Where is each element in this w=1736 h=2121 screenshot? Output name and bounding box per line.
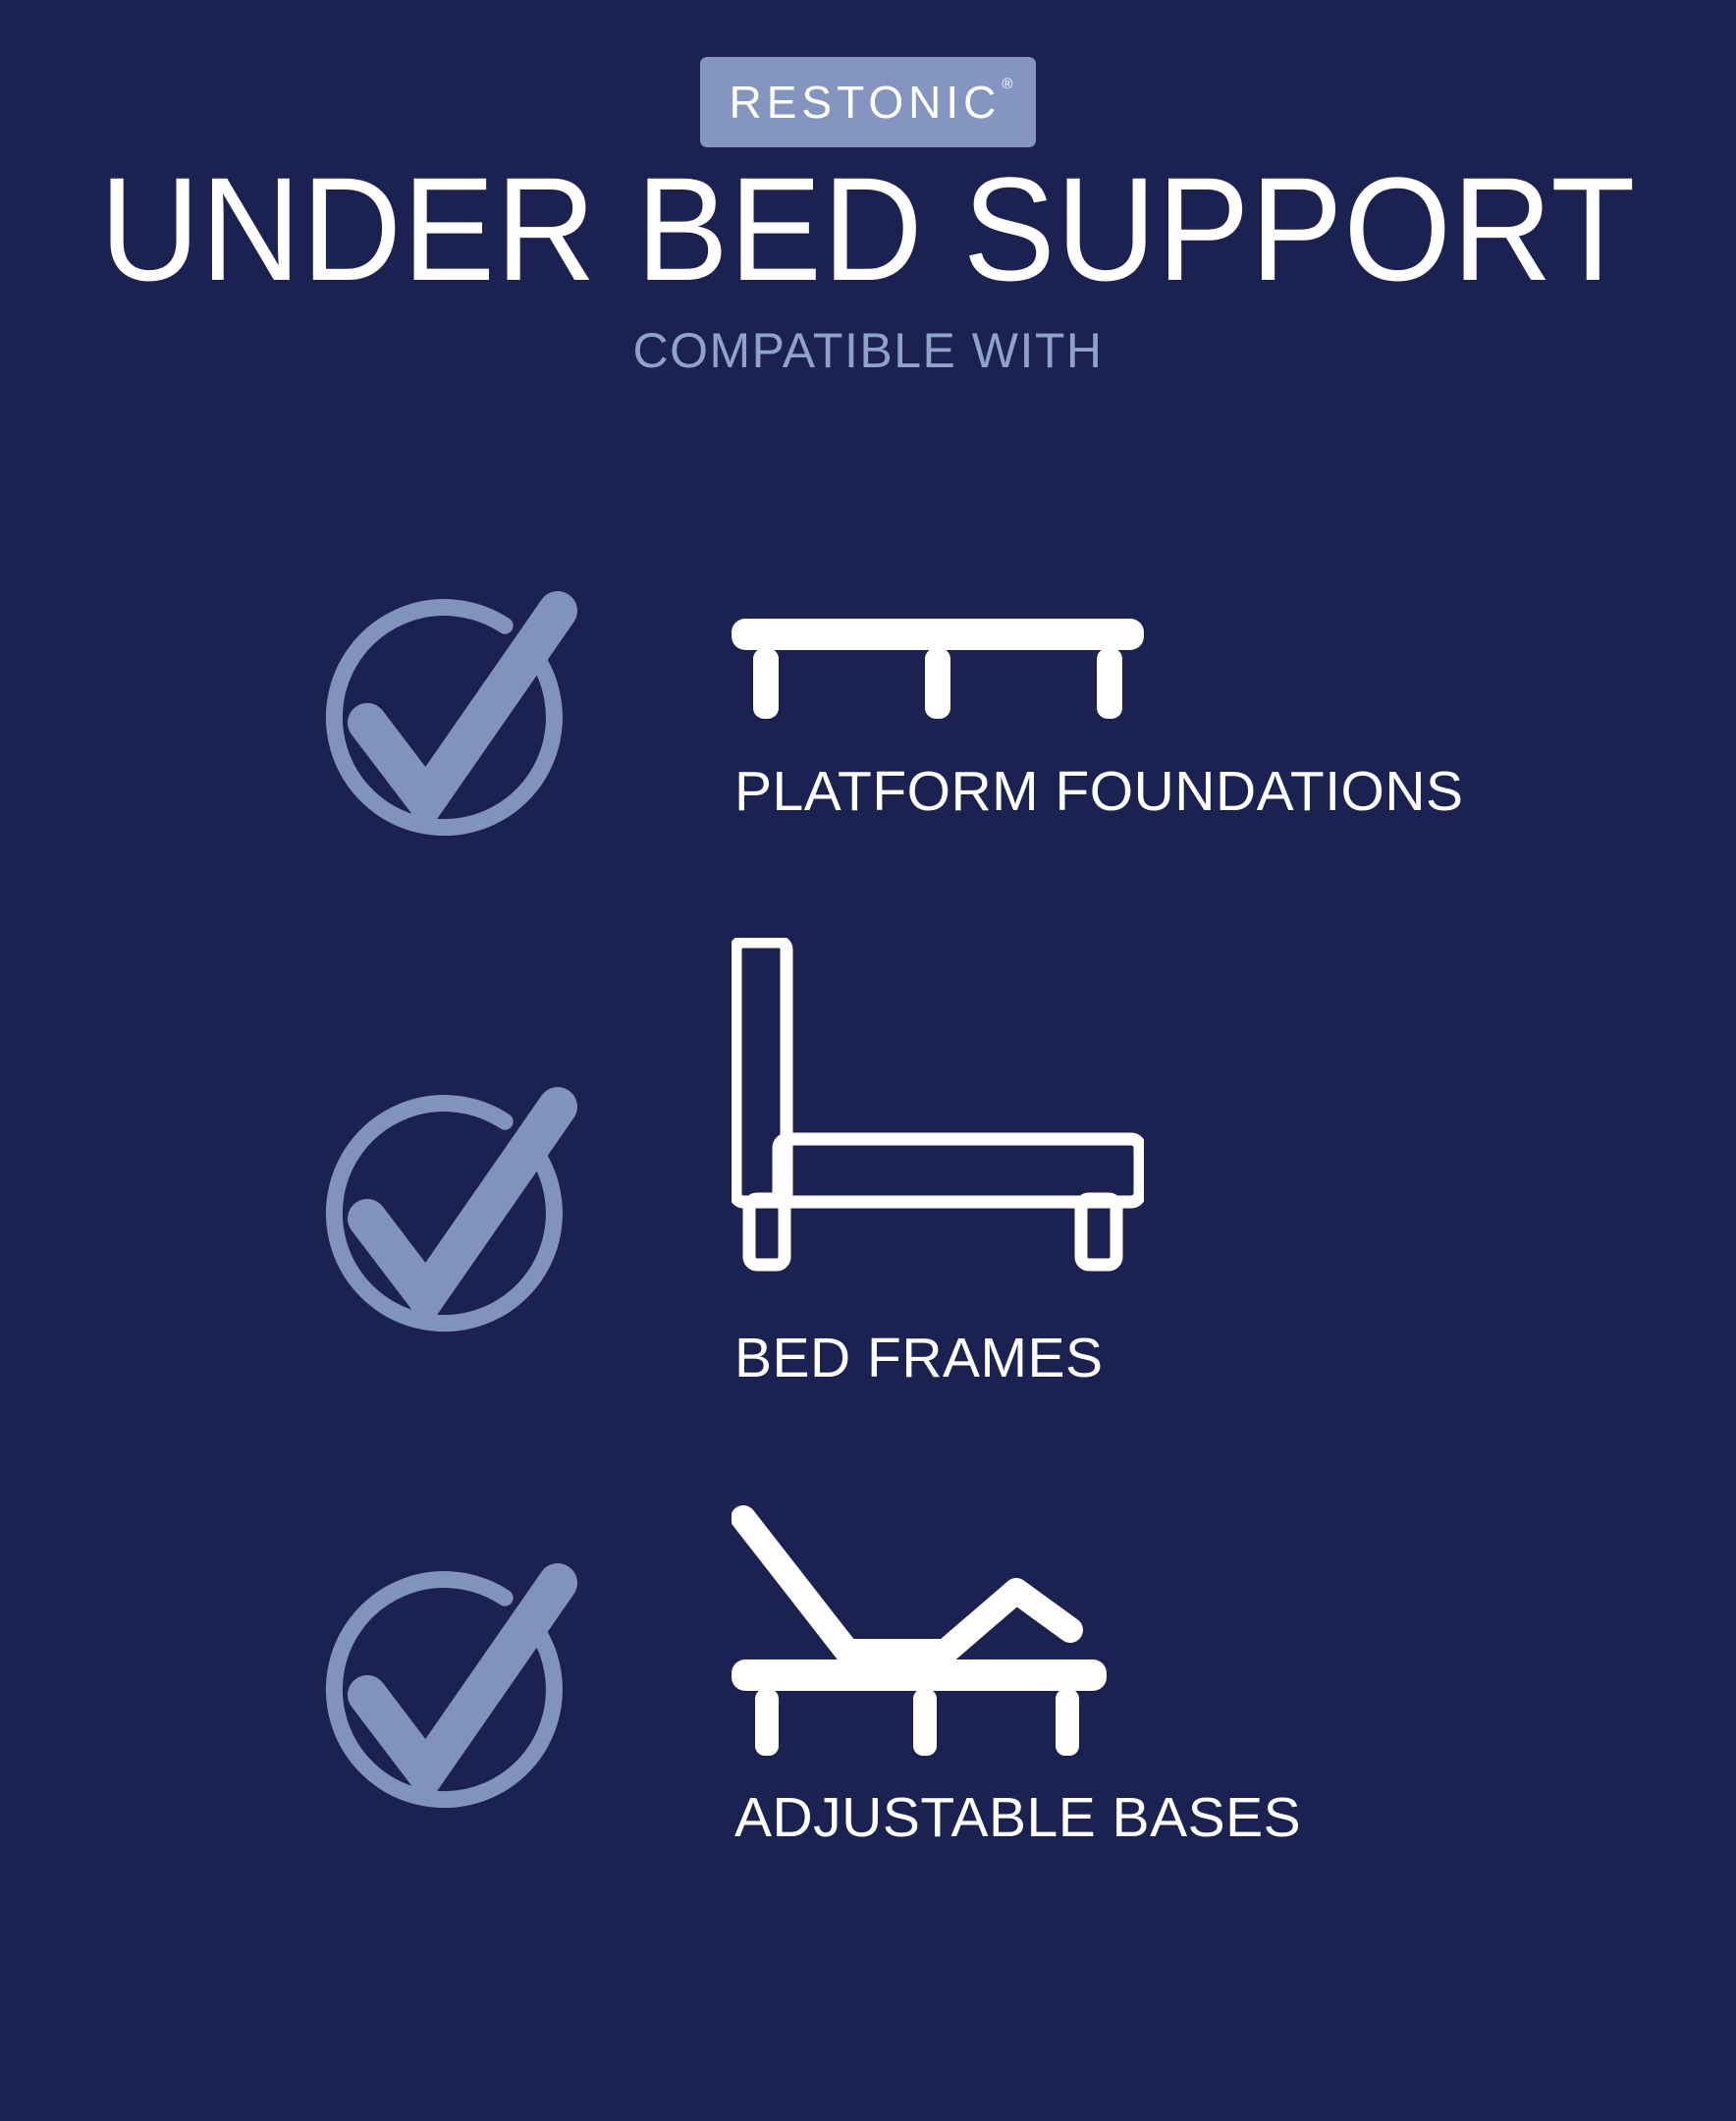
brand-name: RESTONIC®: [725, 80, 1012, 125]
brand-name-text: RESTONIC: [730, 77, 1002, 128]
check-circle-icon: [324, 589, 589, 854]
page-title: UNDER BED SUPPORT: [52, 155, 1684, 302]
page-subtitle: COMPATIBLE WITH: [0, 326, 1736, 375]
restonic-logo-badge: RESTONIC®: [700, 57, 1036, 147]
platform-foundation-icon: [732, 619, 1144, 746]
feature-label: ADJUSTABLE BASES: [734, 1790, 1301, 1846]
trademark-icon: ®: [1002, 76, 1012, 92]
check-circle-icon: [324, 1561, 589, 1826]
feature-label: BED FRAMES: [734, 1331, 1104, 1387]
adjustable-base-icon: [732, 1502, 1144, 1767]
infographic-canvas: RESTONIC® UNDER BED SUPPORT COMPATIBLE W…: [0, 0, 1736, 2121]
feature-label: PLATFORM FOUNDATIONS: [734, 764, 1464, 820]
check-circle-icon: [324, 1085, 589, 1350]
bed-frame-icon: [732, 938, 1144, 1272]
